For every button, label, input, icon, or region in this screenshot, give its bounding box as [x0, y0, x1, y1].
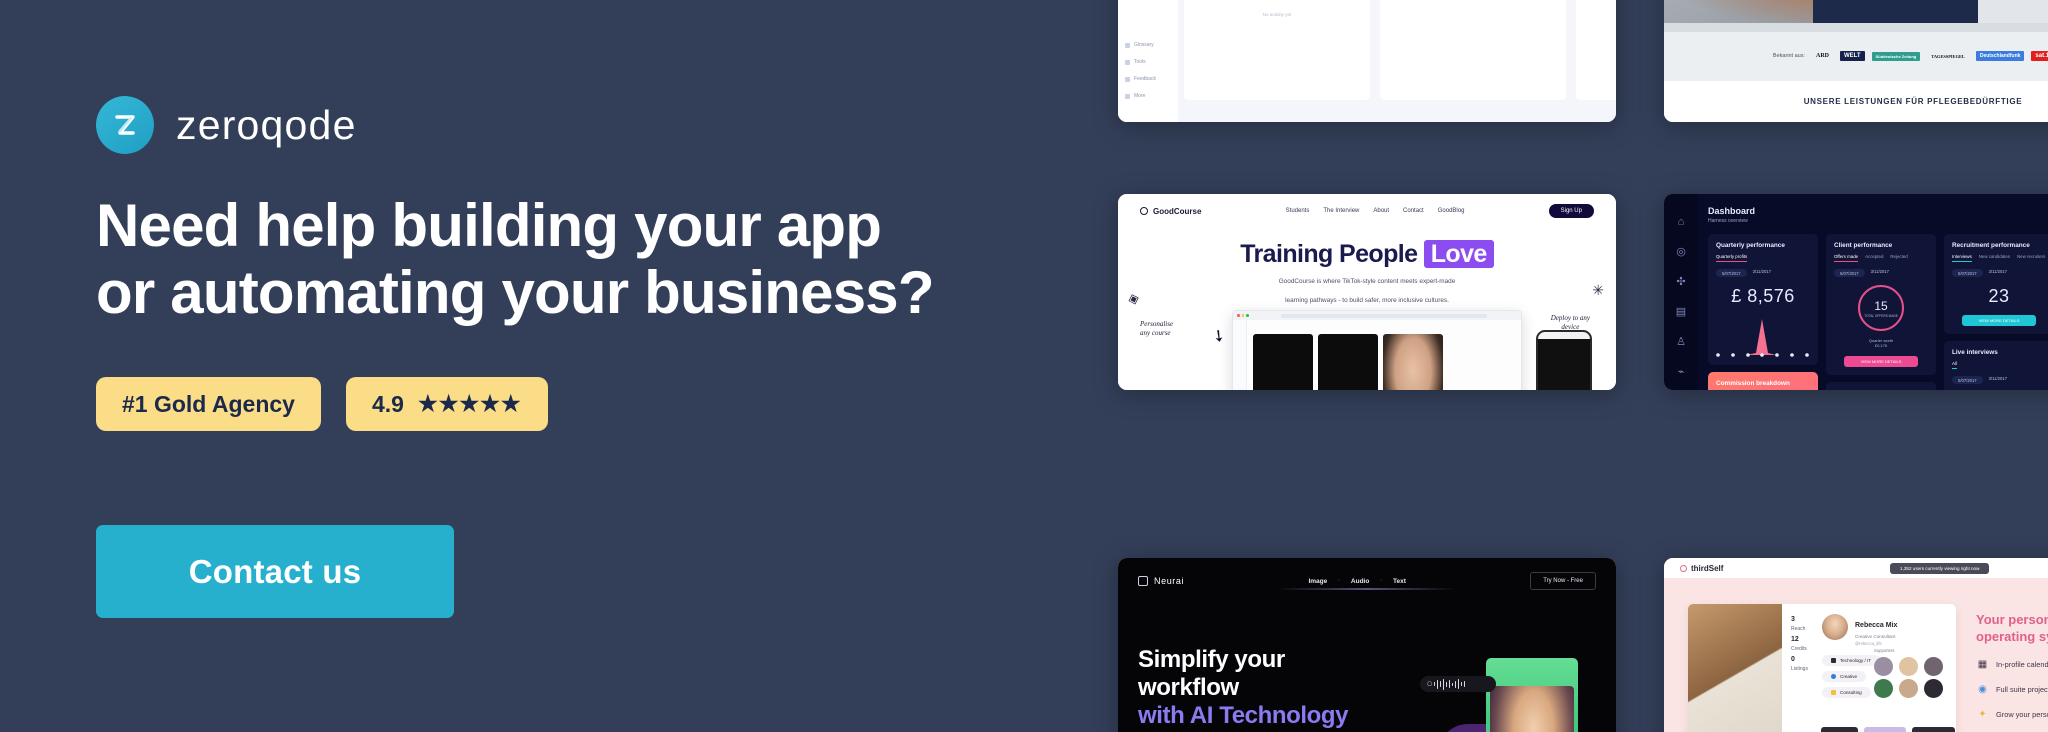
crypto-metamask-panel: Metamask actions ◯Add tokens to Metamask… [1380, 0, 1566, 100]
sparkline-chart [1716, 313, 1810, 357]
german-care-preview: Bekannt aus: ARD WELT Süddeutsche Zeitun… [1664, 0, 2048, 122]
headline-line-2: workflow [1138, 674, 1239, 701]
target-icon[interactable]: ◎ [1676, 245, 1686, 258]
portfolio-card-thirdself[interactable]: thirdSelf 1,352 users currently viewing … [1664, 558, 2048, 732]
tag-label: Creative [1840, 674, 1857, 679]
tag-creative[interactable]: Creative [1822, 671, 1866, 682]
services-title-bar: UNSERE LEISTUNGEN FÜR PFLEGEBEDÜRFTIGE [1664, 81, 2048, 122]
press-logo-strip: Bekannt aus: ARD WELT Süddeutsche Zeitun… [1664, 32, 2048, 82]
headline-line-3: with AI Technology [1138, 702, 1348, 730]
feature-label: Full suite projects [1996, 685, 2048, 694]
maximize-icon [1246, 314, 1249, 317]
badge-group: #1 Gold Agency 4.9 ★★★★★ [96, 377, 548, 431]
nav-item-about[interactable]: About [1373, 208, 1389, 214]
spiral-icon: ◉ [1976, 683, 1989, 696]
thirdself-logo-label: thirdSelf [1691, 564, 1723, 573]
avatar [1924, 657, 1943, 676]
sign-up-button[interactable]: Sign Up [1549, 204, 1594, 218]
profile-body: 3 Reach 12 Credits 0 Listings Rebecca Mi… [1782, 604, 1956, 732]
dot-icon [1125, 77, 1130, 82]
headline-line-1: Need help building your app [96, 192, 881, 259]
try-now-free-button[interactable]: Try Now - Free [1530, 572, 1596, 590]
sketch-icon-right: ✳ [1592, 282, 1604, 299]
nav-item-the-interview[interactable]: The Interview [1323, 208, 1359, 214]
feature-projects: ◉Full suite projects [1976, 683, 2048, 696]
widget-column: Client performance Offers madeAcceptedRe… [1826, 234, 1936, 390]
stat-value: 12 [1791, 636, 1808, 643]
stat-label: Listings [1791, 666, 1808, 672]
portfolio-card-recruitment-dashboard[interactable]: ⌂ ◎ ✣ ▤ ♙ ⌁ Dashboard Harness overview Q… [1664, 194, 2048, 390]
offers-label: TOTAL OFFERS MADE [1864, 314, 1898, 318]
date-to[interactable]: 3/11/2017 [1989, 269, 2007, 277]
widget-title: Quarterly performance [1716, 242, 1810, 249]
crypto-sidebar: Glossary Tools Feedback More [1118, 0, 1178, 122]
widget-tabs: All [1952, 361, 2046, 369]
dot-icon [1125, 94, 1130, 99]
tag-technology[interactable]: Technology / IT [1822, 655, 1880, 666]
nav-item-audio[interactable]: Audio [1351, 578, 1369, 585]
dashboard-title: Dashboard [1708, 206, 1755, 216]
neurai-nav-links: Image · Audio · Text [1308, 578, 1405, 585]
sidebar-item-label: More [1134, 93, 1145, 99]
goodcourse-logo[interactable]: GoodCourse [1140, 207, 1201, 216]
date-range: 5/07/20173/11/2017 [1834, 269, 1928, 277]
date-to[interactable]: 3/11/2017 [1753, 269, 1771, 277]
profile-cover-photo [1688, 604, 1782, 732]
goodcourse-subtitle-1: GoodCourse is where TikTok-style content… [1118, 277, 1616, 288]
microphone-icon: ⎔ [1427, 681, 1432, 688]
dashboard-sidebar: ⌂ ◎ ✣ ▤ ♙ ⌁ [1664, 194, 1698, 390]
widget-client-performance: Client performance Offers madeAcceptedRe… [1826, 234, 1936, 375]
offers-value: 15 [1874, 299, 1887, 313]
person-figure-secondary [1978, 0, 2048, 23]
widget-live-interviews: Live interviews All 5/07/20173/11/2017 2… [1944, 341, 2048, 390]
press-logo-tagesspiegel: TAGESSPIEGEL [1927, 52, 1969, 61]
dot-icon [1125, 60, 1130, 65]
headline-plain: Training People [1240, 240, 1424, 268]
widget-commission-breakdown: Commission breakdown Consultant commissi… [1708, 372, 1818, 390]
headline-line-2: operating system [1976, 629, 2048, 644]
brand-name: zeroqode [176, 105, 357, 146]
goodcourse-logo-label: GoodCourse [1153, 207, 1201, 216]
crypto-news-panel: Top crypto news Here are the Top 5 ChatG… [1576, 0, 1616, 100]
thirdself-headline: Your personal operating system [1976, 612, 2048, 646]
rating-value: 4.9 [372, 391, 404, 418]
sparkle-icon: ✦ [1976, 708, 1989, 721]
app-rail [1233, 320, 1247, 390]
date-to[interactable]: 3/11/2017 [1871, 269, 1889, 277]
zeroqode-z-logo-icon [96, 96, 154, 154]
widget-tabs: Quarterly profits [1716, 254, 1810, 262]
close-icon [1237, 314, 1240, 317]
widget-grid: Quarterly performance Quarterly profits … [1708, 234, 2048, 390]
crypto-latest-transactions-panel: Latest transactions No activity yet [1184, 0, 1370, 100]
sidebar-item-feedback[interactable]: Feedback [1125, 76, 1171, 82]
recruitment-dashboard-preview: ⌂ ◎ ✣ ▤ ♙ ⌁ Dashboard Harness overview Q… [1664, 194, 2048, 390]
hero-content: zeroqode Need help building your app or … [96, 0, 1096, 732]
date-from[interactable]: 5/07/2017 [1952, 376, 1983, 384]
sidebar-item-label: Feedback [1134, 76, 1156, 82]
browser-body: ConsciousInclusion [1233, 320, 1521, 390]
date-from[interactable]: 5/07/2017 [1716, 269, 1747, 277]
portfolio-card-goodcourse[interactable]: GoodCourse Students The Interview About … [1118, 194, 1616, 390]
empty-state-label: No activity yet [1184, 0, 1370, 17]
portfolio-card-crypto-dashboard[interactable]: Glossary Tools Feedback More Metis$0.67⌄… [1118, 0, 1616, 122]
tab-interviews[interactable]: Interviews [1952, 254, 1972, 262]
thirdself-navbar: thirdSelf 1,352 users currently viewing … [1664, 558, 2048, 578]
chart-icon[interactable]: ⌁ [1678, 365, 1685, 378]
view-more-details-button[interactable]: VIEW MORE DETAILS [1844, 356, 1918, 367]
annotation-personalise: Personaliseany course [1140, 320, 1173, 338]
date-range: 5/07/20173/11/2017 [1952, 269, 2046, 277]
neurai-logo[interactable]: Neurai [1138, 576, 1184, 586]
supporters-block: Supporters [1874, 648, 1946, 698]
avatar [1874, 679, 1893, 698]
minimize-icon [1242, 314, 1245, 317]
circle-logo-icon [1680, 565, 1687, 572]
dashboard-subtitle: Harness overview [1708, 218, 1755, 224]
neurai-mark-icon [1138, 576, 1148, 586]
home-icon[interactable]: ⌂ [1678, 216, 1685, 228]
dot-separator-icon: · [1338, 578, 1340, 584]
tab-new-candidates[interactable]: New candidates [1979, 254, 2010, 262]
circle-logo-icon [1140, 207, 1148, 215]
avatar [1822, 614, 1848, 640]
widget-tabs: InterviewsNew candidatesNew recruiters [1952, 254, 2046, 262]
feature-calendar: ▦In-profile calendar [1976, 658, 2048, 671]
stat-label: Reach [1791, 626, 1805, 632]
feature-brand: ✦Grow your personal brand [1976, 708, 2048, 721]
brand-logo[interactable]: zeroqode [96, 96, 357, 154]
live-viewers-notice: 1,352 users currently viewing right now [1890, 563, 1989, 574]
press-logo-deutschlandfunk: Deutschlandfunk [1976, 51, 2025, 61]
goodcourse-preview: GoodCourse Students The Interview About … [1118, 194, 1616, 390]
tab-new-recruiters[interactable]: New recruiters [2017, 254, 2045, 262]
widget-title: Live interviews [1952, 349, 2046, 356]
stat-value: 0 [1791, 656, 1808, 663]
stat-value: 3 [1791, 616, 1808, 623]
dot-separator-icon: · [1380, 578, 1382, 584]
sidebar-item-more[interactable]: More [1125, 93, 1171, 99]
phone-mockup: ConsciousInclusion [1536, 330, 1592, 390]
browser-mockup: ConsciousInclusion [1232, 310, 1522, 390]
goodcourse-navbar: GoodCourse Students The Interview About … [1118, 194, 1616, 228]
gold-agency-label: #1 Gold Agency [122, 391, 295, 418]
profile-identity: Rebecca Mix Creative Consultant @rebecca… [1822, 614, 1946, 646]
people-icon[interactable]: ♙ [1676, 335, 1686, 348]
feature-label: Grow your personal brand [1996, 710, 2048, 719]
supporters-avatars [1874, 657, 1946, 698]
widget-total-clients: Total Clients registered ▤10 Clients reg… [1826, 382, 1936, 390]
date-to[interactable]: 3/11/2017 [1989, 376, 2007, 384]
quarterly-value: £ 8,576 [1716, 286, 1810, 307]
profile-card: 3 Reach 12 Credits 0 Listings Rebecca Mi… [1688, 604, 1956, 732]
goodcourse-nav-links: Students The Interview About Contact Goo… [1286, 208, 1465, 214]
dot-icon [1125, 43, 1130, 48]
headline-line-2: or automating your business? [96, 259, 1076, 326]
widget-recruitment-performance: Recruitment performance InterviewsNew ca… [1944, 234, 2048, 334]
thirdself-marketing: Your personal operating system ▦In-profi… [1976, 612, 2048, 721]
view-more-details-button[interactable]: VIEW MORE DETAILS [1962, 315, 2036, 326]
audio-waveform-widget: ⎔ [1420, 676, 1496, 692]
portrait-image [1490, 686, 1574, 732]
calendar-icon: ▦ [1976, 658, 1989, 671]
stat-label: Credits [1791, 646, 1807, 652]
profile-handle: @rebecca_life [1855, 641, 1897, 646]
avatar [1899, 657, 1918, 676]
widget-title: Recruitment performance [1952, 242, 2046, 249]
date-range: 5/07/20173/11/2017 [1952, 376, 2046, 384]
tag-consulting[interactable]: Consulting [1822, 687, 1871, 698]
goodcourse-subtitle-2: learning pathways - to build safer, more… [1118, 296, 1616, 307]
neurai-logo-label: Neurai [1154, 576, 1184, 586]
neurai-navbar: Neurai Image · Audio · Text Try Now - Fr… [1118, 558, 1616, 604]
nav-item-students[interactable]: Students [1286, 208, 1310, 214]
crypto-dashboard-preview: Glossary Tools Feedback More Metis$0.67⌄… [1118, 0, 1616, 122]
neurai-preview: Neurai Image · Audio · Text Try Now - Fr… [1118, 558, 1616, 732]
nav-item-contact[interactable]: Contact [1403, 208, 1424, 214]
headline-highlight: Love [1424, 240, 1494, 268]
profile-stats: 3 Reach 12 Credits 0 Listings [1791, 616, 1808, 676]
supporters-label: Supporters [1874, 648, 1946, 653]
profile-name: Rebecca Mix [1855, 622, 1897, 629]
glow-decor [1277, 588, 1457, 590]
press-logo-sat1: sat.1 [2031, 51, 2048, 61]
tag-label: Consulting [1840, 690, 1862, 695]
recruitment-value: 23 [1952, 286, 2046, 307]
services-title: UNSERE LEISTUNGEN FÜR PFLEGEBEDÜRFTIGE [1804, 97, 2023, 106]
press-label: Bekannt aus: [1773, 53, 1805, 59]
tab-quarterly-profits[interactable]: Quarterly profits [1716, 254, 1747, 262]
avatar [1874, 657, 1893, 676]
url-bar [1281, 314, 1488, 318]
contact-us-button[interactable]: Contact us [96, 525, 454, 618]
browser-chrome [1233, 311, 1521, 320]
tab-accepted[interactable]: Accepted [1865, 254, 1883, 262]
tab-rejected[interactable]: Rejected [1890, 254, 1907, 262]
nav-item-image[interactable]: Image [1308, 578, 1327, 585]
sidebar-item-label: Glossary [1134, 42, 1154, 48]
press-logo-sz: Süddeutsche Zeitung [1872, 52, 1921, 61]
date-range: 5/07/20173/11/2017 [1716, 269, 1810, 277]
goodcourse-headline: Training People Love [1118, 240, 1616, 269]
widget-tabs: Offers madeAcceptedRejected [1834, 254, 1928, 262]
tag-label: Technology / IT [1840, 658, 1871, 663]
portfolio-card-neurai[interactable]: Neurai Image · Audio · Text Try Now - Fr… [1118, 558, 1616, 732]
phone-status-bar [1538, 332, 1590, 339]
tab-all[interactable]: All [1952, 361, 1957, 369]
neurai-headline: Simplify your workflow with AI Technolog… [1138, 646, 1348, 729]
headline-line-1: Simplify your [1138, 646, 1285, 673]
course-slide [1318, 334, 1378, 390]
presenter-thumbnail [1383, 334, 1443, 390]
widget-title: Commission breakdown [1716, 380, 1810, 387]
press-logo-ard: ARD [1812, 51, 1833, 61]
date-from[interactable]: 5/07/2017 [1834, 269, 1865, 277]
widget-column: Recruitment performance InterviewsNew ca… [1944, 234, 2048, 390]
feature-label: In-profile calendar [1996, 660, 2048, 669]
course-slide: ConsciousInclusion [1253, 334, 1313, 390]
avatar [1899, 679, 1918, 698]
portfolio-card-german-care[interactable]: Bekannt aus: ARD WELT Süddeutsche Zeitun… [1664, 0, 2048, 122]
quarter-worth-value: £0,175 [1834, 343, 1928, 348]
nav-item-goodblog[interactable]: GoodBlog [1438, 208, 1465, 214]
widget-title: Client performance [1834, 242, 1928, 249]
briefcase-icon[interactable]: ▤ [1676, 305, 1686, 318]
hero-section: zeroqode Need help building your app or … [0, 0, 2048, 732]
follow-button[interactable]: Follow [1821, 727, 1858, 732]
course-slides: ConsciousInclusion [1247, 320, 1449, 390]
profile-actions: Follow Book me Message [1821, 727, 1955, 732]
status-badge-rating: 4.9 ★★★★★ [346, 377, 548, 431]
thirdself-logo[interactable]: thirdSelf [1680, 564, 1723, 573]
book-me-button[interactable]: Book me [1864, 727, 1906, 732]
page-title: Need help building your app or automatin… [96, 192, 1076, 326]
portfolio-gallery: Glossary Tools Feedback More Metis$0.67⌄… [1118, 0, 2048, 732]
sidebar-item-glossary[interactable]: Glossary [1125, 42, 1171, 48]
thirdself-preview: thirdSelf 1,352 users currently viewing … [1664, 558, 2048, 732]
press-logo-welt: WELT [1840, 51, 1865, 61]
offers-donut-chart: 15 TOTAL OFFERS MADE [1858, 285, 1904, 331]
avatar [1924, 679, 1943, 698]
tab-offers-made[interactable]: Offers made [1834, 254, 1858, 262]
widget-column: Quarterly performance Quarterly profits … [1708, 234, 1818, 390]
message-button[interactable]: Message [1912, 727, 1955, 732]
sidebar-item-tools[interactable]: Tools [1125, 59, 1171, 65]
profile-role: Creative Consultant [1855, 634, 1897, 639]
status-badge-gold-agency: #1 Gold Agency [96, 377, 321, 431]
network-icon[interactable]: ✣ [1676, 275, 1685, 288]
date-from[interactable]: 5/07/2017 [1952, 269, 1983, 277]
nav-item-text[interactable]: Text [1393, 578, 1406, 585]
headline-line-1: Your personal [1976, 612, 2048, 627]
dashboard-header: Dashboard Harness overview [1708, 206, 1755, 224]
hero-photo [1664, 0, 2048, 23]
widget-quarterly-performance: Quarterly performance Quarterly profits … [1708, 234, 1818, 365]
star-rating-icon: ★★★★★ [418, 393, 522, 415]
sidebar-item-label: Tools [1134, 59, 1146, 65]
